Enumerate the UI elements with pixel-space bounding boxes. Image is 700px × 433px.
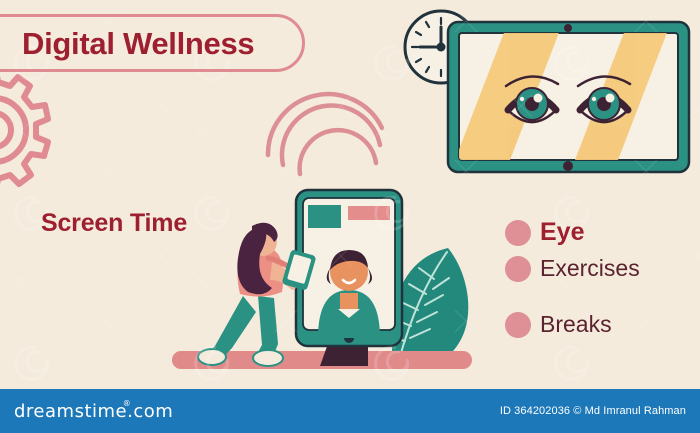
bullet-dot-icon — [505, 312, 531, 338]
bullet-dot-icon — [505, 220, 531, 246]
stock-footer-bar: dreamstime.com ® ID 364202036 © Md Imran… — [0, 389, 700, 433]
bullet-dot-icon — [505, 256, 531, 282]
dreamstime-logo[interactable]: dreamstime.com ® — [14, 401, 173, 422]
list-item-label: Breaks — [540, 311, 612, 338]
poster-canvas: Digital Wellness Screen Time Eye Exercis… — [0, 0, 700, 433]
dreamstime-logo-text: dreamstime.com — [14, 401, 173, 422]
list-item-eye: Eye — [505, 218, 584, 247]
list-item-label: Exercises — [540, 255, 640, 282]
page-title: Digital Wellness — [22, 26, 254, 62]
list-item-label: Eye — [540, 218, 584, 247]
list-item-breaks: Breaks — [505, 311, 612, 338]
subtitle-screen-time: Screen Time — [41, 209, 187, 238]
list-item-exercises: Exercises — [505, 255, 640, 282]
registered-trademark-icon: ® — [123, 399, 132, 408]
image-credit: ID 364202036 © Md Imranul Rahman — [500, 405, 686, 417]
